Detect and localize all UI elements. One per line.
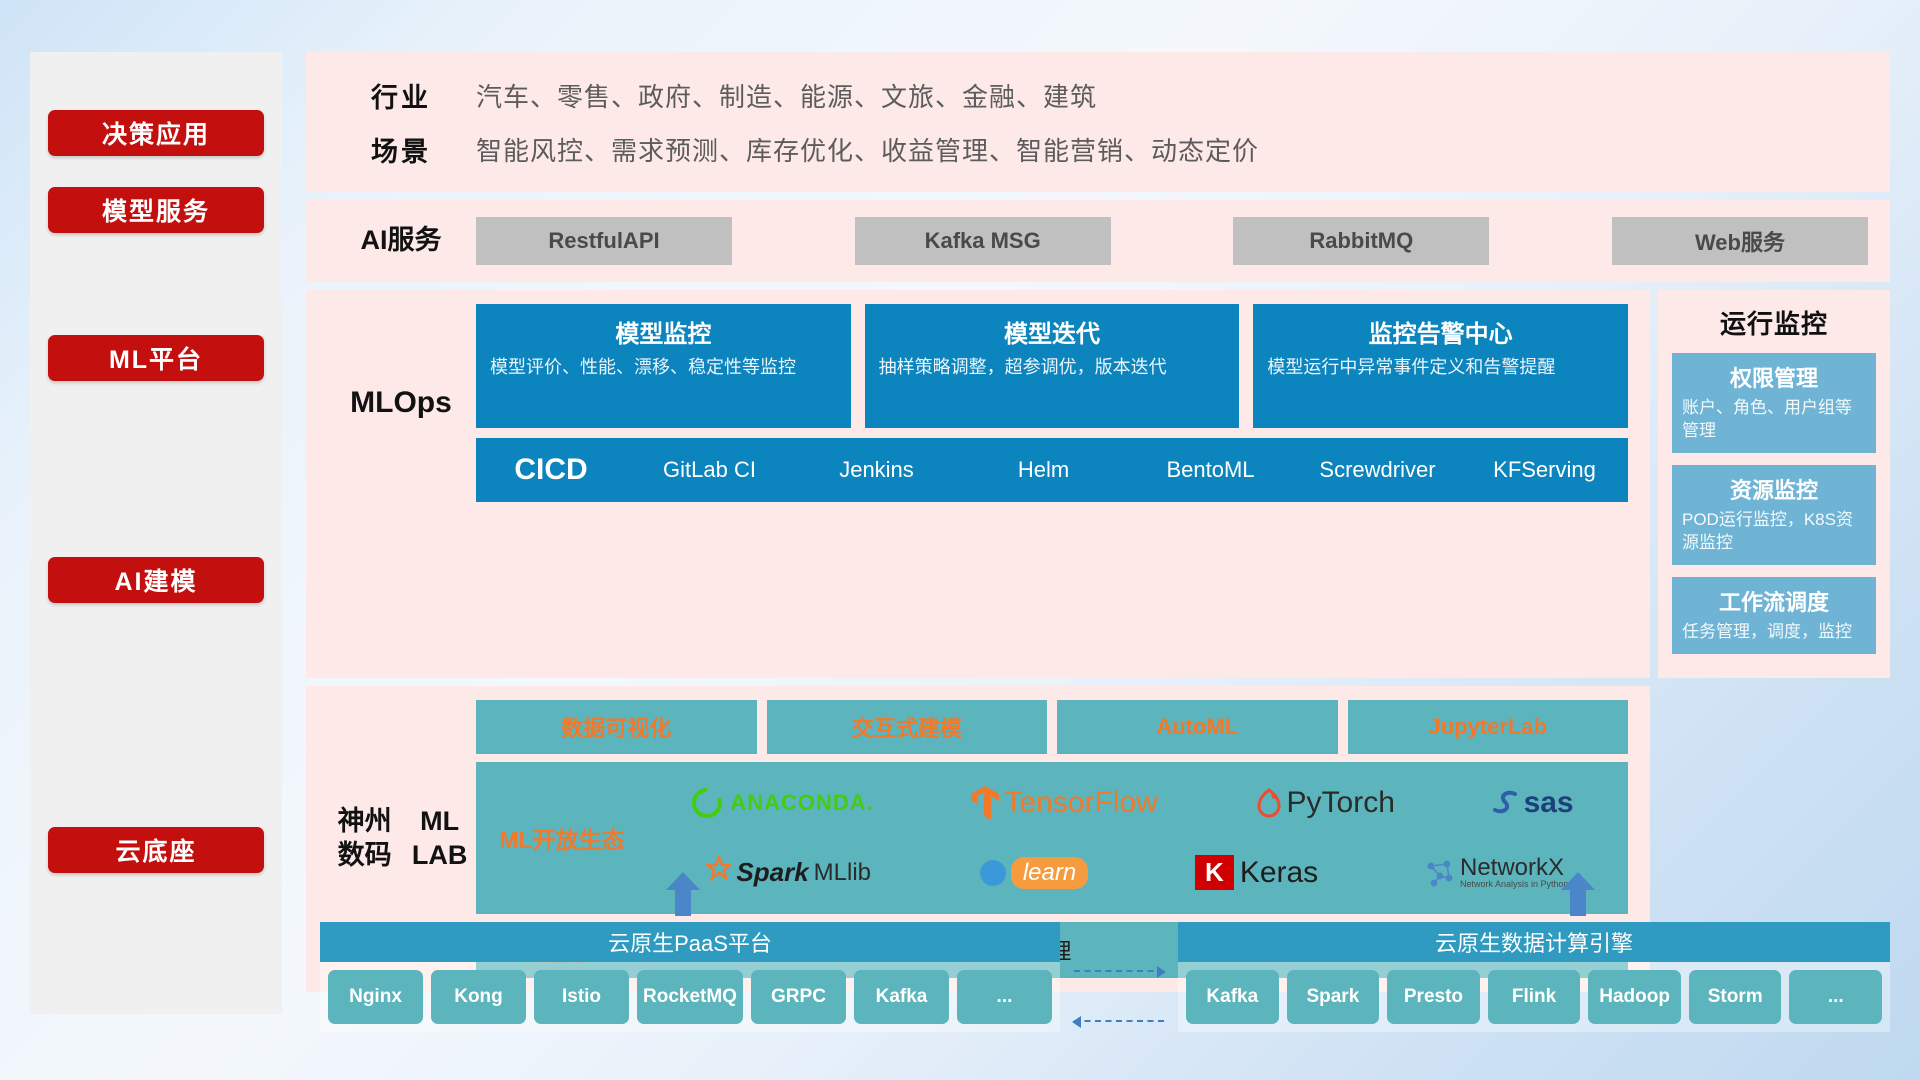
data-engine-pill-list: Kafka Spark Presto Flink Hadoop Storm ..… <box>1178 962 1890 1032</box>
ml-lab-tab-list: 数据可视化 交互式建模 AutoML JupyterLab <box>476 700 1628 754</box>
run-monitor-title: 运行监控 <box>1672 304 1876 341</box>
card-desc: 模型评价、性能、漂移、稳定性等监控 <box>490 355 837 379</box>
engine-pill[interactable]: Flink <box>1488 970 1581 1024</box>
ai-service-chip[interactable]: RabbitMQ <box>1233 217 1489 265</box>
engine-pill[interactable]: Presto <box>1387 970 1480 1024</box>
tab-jupyterlab[interactable]: JupyterLab <box>1348 700 1629 754</box>
engine-pill[interactable]: Storm <box>1689 970 1782 1024</box>
decision-apps-values: 汽车、零售、政府、制造、能源、文旅、金融、建筑 智能风控、需求预测、库存优化、收… <box>476 68 1259 176</box>
mlops-card-list: 模型监控 模型评价、性能、漂移、稳定性等监控 模型迭代 抽样策略调整，超参调优，… <box>476 304 1628 428</box>
decision-apps-labels: 行业 场景 <box>326 68 476 176</box>
diagram-canvas: 决策应用 模型服务 ML平台 AI建模 云底座 行业 场景 汽车、零售、政府、制… <box>0 0 1920 1080</box>
rail-label: ML平台 <box>109 340 203 376</box>
card-title: 监控告警中心 <box>1267 314 1614 349</box>
rail-ml-platform[interactable]: ML平台 <box>48 335 264 381</box>
data-engine-title: 云原生数据计算引擎 <box>1178 922 1890 962</box>
ml-lab-label-line2: ML LAB <box>403 805 476 873</box>
card-title: 工作流调度 <box>1682 585 1866 617</box>
networkx-label: NetworkX <box>1460 856 1569 880</box>
tensorflow-logo: TensorFlow <box>970 785 1157 821</box>
rail-ai-modeling[interactable]: AI建模 <box>48 557 264 603</box>
industry-label: 行业 <box>326 68 476 122</box>
paas-pill[interactable]: Kafka <box>854 970 949 1024</box>
cicd-label: CICD <box>476 453 626 487</box>
cicd-bar: CICD GitLab CI Jenkins Helm BentoML Scre… <box>476 438 1628 502</box>
card-desc: 抽样策略调整，超参调优，版本迭代 <box>879 355 1226 379</box>
card-title: 资源监控 <box>1682 473 1866 505</box>
paas-pill-list: Nginx Kong Istio RocketMQ GRPC Kafka ... <box>320 962 1060 1032</box>
cloud-base-section: 云原生PaaS平台 Nginx Kong Istio RocketMQ GRPC… <box>306 880 1890 1030</box>
monitor-card-permissions[interactable]: 权限管理 账户、角色、用户组等管理 <box>1672 353 1876 453</box>
cicd-item[interactable]: Helm <box>960 456 1127 484</box>
mlops-band: MLOps 模型监控 模型评价、性能、漂移、稳定性等监控 模型迭代 抽样策略调整… <box>306 290 1650 678</box>
paas-pill[interactable]: GRPC <box>751 970 846 1024</box>
monitor-card-workflow[interactable]: 工作流调度 任务管理，调度，监控 <box>1672 577 1876 654</box>
arrow-up-icon-paas <box>666 872 700 916</box>
rail-decision-apps[interactable]: 决策应用 <box>48 110 264 156</box>
cicd-item-list: GitLab CI Jenkins Helm BentoML Screwdriv… <box>626 456 1628 484</box>
mlops-card-alert-center[interactable]: 监控告警中心 模型运行中异常事件定义和告警提醒 <box>1253 304 1628 428</box>
anaconda-label: ANACONDA. <box>730 790 873 816</box>
cicd-item[interactable]: KFServing <box>1461 456 1628 484</box>
tensorflow-label: TensorFlow <box>1004 786 1157 820</box>
cicd-item[interactable]: BentoML <box>1127 456 1294 484</box>
ai-service-chip-list: RestfulAPI Kafka MSG RabbitMQ Web服务 <box>476 217 1890 265</box>
rail-label: 模型服务 <box>102 192 210 228</box>
anaconda-logo: ANACONDA. <box>690 786 873 820</box>
mlops-row: MLOps 模型监控 模型评价、性能、漂移、稳定性等监控 模型迭代 抽样策略调整… <box>306 290 1890 678</box>
ai-service-chip[interactable]: Web服务 <box>1612 217 1868 265</box>
mlops-card-model-monitor[interactable]: 模型监控 模型评价、性能、漂移、稳定性等监控 <box>476 304 851 428</box>
rail-label: AI建模 <box>114 562 197 598</box>
dash-arrow-right <box>1074 970 1164 972</box>
paas-panel: 云原生PaaS平台 Nginx Kong Istio RocketMQ GRPC… <box>320 922 1060 1032</box>
card-title: 权限管理 <box>1682 361 1866 393</box>
ai-service-chip[interactable]: Kafka MSG <box>855 217 1111 265</box>
engine-pill[interactable]: Spark <box>1287 970 1380 1024</box>
tab-interactive-modeling[interactable]: 交互式建模 <box>767 700 1048 754</box>
sas-label: sas <box>1524 786 1574 820</box>
mlops-label: MLOps <box>326 304 476 502</box>
paas-pill[interactable]: Kong <box>431 970 526 1024</box>
engine-pill[interactable]: Hadoop <box>1588 970 1681 1024</box>
engine-pill[interactable]: ... <box>1789 970 1882 1024</box>
card-desc: 模型运行中异常事件定义和告警提醒 <box>1267 355 1614 379</box>
mlops-card-model-iteration[interactable]: 模型迭代 抽样策略调整，超参调优，版本迭代 <box>865 304 1240 428</box>
rail-model-service[interactable]: 模型服务 <box>48 187 264 233</box>
sas-logo: sas <box>1492 786 1574 820</box>
pytorch-label: PyTorch <box>1287 786 1395 820</box>
ml-lab-label-line1: 神州数码 <box>326 805 403 873</box>
card-title: 模型监控 <box>490 314 837 349</box>
dash-arrow-left <box>1074 1020 1164 1022</box>
rail-cloud-base[interactable]: 云底座 <box>48 827 264 873</box>
paas-title: 云原生PaaS平台 <box>320 922 1060 962</box>
main-column: 行业 场景 汽车、零售、政府、制造、能源、文旅、金融、建筑 智能风控、需求预测、… <box>306 52 1890 992</box>
rail-label: 决策应用 <box>102 115 210 151</box>
engine-pill[interactable]: Kafka <box>1186 970 1279 1024</box>
rail-label: 云底座 <box>115 832 196 868</box>
tab-data-visualization[interactable]: 数据可视化 <box>476 700 757 754</box>
paas-pill[interactable]: ... <box>957 970 1052 1024</box>
scenario-label: 场景 <box>326 122 476 176</box>
paas-pill[interactable]: Nginx <box>328 970 423 1024</box>
cicd-item[interactable]: Jenkins <box>793 456 960 484</box>
run-monitor-panel: 运行监控 权限管理 账户、角色、用户组等管理 资源监控 POD运行监控，K8S资… <box>1658 290 1890 678</box>
monitor-card-resources[interactable]: 资源监控 POD运行监控，K8S资源监控 <box>1672 465 1876 565</box>
ml-logo-row-1: ANACONDA. TensorFlow <box>642 771 1622 835</box>
data-engine-panel: 云原生数据计算引擎 Kafka Spark Presto Flink Hadoo… <box>1178 922 1890 1032</box>
paas-pill[interactable]: RocketMQ <box>637 970 743 1024</box>
card-title: 模型迭代 <box>879 314 1226 349</box>
industry-values: 汽车、零售、政府、制造、能源、文旅、金融、建筑 <box>476 68 1259 122</box>
left-rail: 决策应用 模型服务 ML平台 AI建模 云底座 <box>30 52 282 1014</box>
decision-apps-band: 行业 场景 汽车、零售、政府、制造、能源、文旅、金融、建筑 智能风控、需求预测、… <box>306 52 1890 192</box>
card-desc: 账户、角色、用户组等管理 <box>1682 397 1866 443</box>
scenario-values: 智能风控、需求预测、库存优化、收益管理、智能营销、动态定价 <box>476 122 1259 176</box>
card-desc: POD运行监控，K8S资源监控 <box>1682 509 1866 555</box>
ai-service-band: AI服务 RestfulAPI Kafka MSG RabbitMQ Web服务 <box>306 200 1890 282</box>
tab-automl[interactable]: AutoML <box>1057 700 1338 754</box>
pytorch-logo: PyTorch <box>1255 786 1395 820</box>
ai-service-label: AI服务 <box>326 224 476 258</box>
ai-service-chip[interactable]: RestfulAPI <box>476 217 732 265</box>
cicd-item[interactable]: GitLab CI <box>626 456 793 484</box>
arrow-up-icon-engine <box>1561 872 1595 916</box>
cicd-item[interactable]: Screwdriver <box>1294 456 1461 484</box>
paas-pill[interactable]: Istio <box>534 970 629 1024</box>
card-desc: 任务管理，调度，监控 <box>1682 621 1866 644</box>
ml-ecosystem-label: ML开放生态 <box>482 821 642 855</box>
